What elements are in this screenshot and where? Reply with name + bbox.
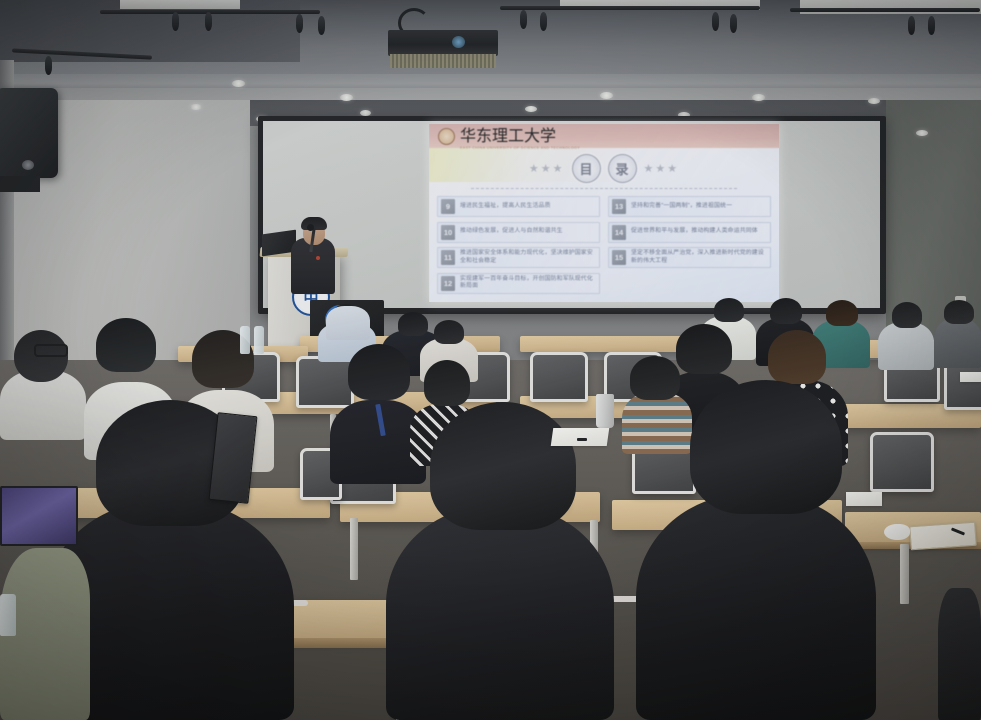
table-leg <box>350 518 358 580</box>
spotlight-icon <box>520 10 527 29</box>
university-name-block: 华东理工大学 EAST CHINA UNIVERSITY OF SCIENCE … <box>460 124 580 150</box>
downlight <box>752 94 765 101</box>
tumbler-cup <box>596 394 614 428</box>
microphone-head-icon <box>307 224 314 231</box>
toc-number: 12 <box>441 276 455 291</box>
toc-text: 推动绿色发展，促进人与自然和谐共生 <box>460 225 563 240</box>
downlight <box>916 130 928 136</box>
projector-vent <box>390 54 496 68</box>
screen-surface: 华东理工大学 EAST CHINA UNIVERSITY OF SCIENCE … <box>263 121 880 308</box>
track-light-rail <box>790 8 980 12</box>
toc-number: 15 <box>612 250 626 265</box>
toc-number: 9 <box>441 199 455 214</box>
spotlight-icon <box>908 16 915 35</box>
spotlight-icon <box>45 56 52 75</box>
toc-text: 坚持和完善"一国两制"，推进祖国统一 <box>631 199 732 214</box>
toc-seal-mu: 目 <box>572 154 601 183</box>
chair <box>870 432 934 492</box>
track-light-rail <box>500 6 760 10</box>
chair <box>296 356 354 408</box>
toc-text: 促进世界和平与发展，推动构建人类命运共同体 <box>631 225 758 240</box>
downlight <box>868 98 880 104</box>
projection-screen: 华东理工大学 EAST CHINA UNIVERSITY OF SCIENCE … <box>258 116 886 314</box>
document-sheet <box>551 428 610 446</box>
spotlight-icon <box>730 14 737 33</box>
toc-seal-lu: 录 <box>608 154 637 183</box>
chair <box>530 352 588 402</box>
downlight <box>190 104 202 110</box>
speaker-bracket <box>0 176 40 192</box>
toc-text: 推进国家安全体系和能力现代化，坚决维护国家安全和社会稳定 <box>460 250 596 265</box>
slide-divider <box>471 188 737 189</box>
toc-text: 增进民生福祉，提高人民生活品质 <box>460 199 551 214</box>
glasses-icon <box>34 344 68 357</box>
list-item: 10 推动绿色发展，促进人与自然和谐共生 <box>437 222 600 243</box>
list-item: 11 推进国家安全体系和能力现代化，坚决维护国家安全和社会稳定 <box>437 247 600 268</box>
presentation-slide: 华东理工大学 EAST CHINA UNIVERSITY OF SCIENCE … <box>429 124 779 302</box>
document-sheet <box>846 492 882 506</box>
downlight <box>525 106 537 112</box>
university-name: 华东理工大学 <box>460 128 556 145</box>
stars-left: ★★★ <box>529 162 565 175</box>
laptop <box>0 486 78 546</box>
stars-right: ★★★ <box>644 162 680 175</box>
presenter-lapel-pin <box>316 256 320 260</box>
toc-number: 14 <box>612 225 626 240</box>
water-bottle <box>0 594 16 636</box>
list-item: 13 坚持和完善"一国两制"，推进祖国统一 <box>608 196 771 217</box>
spotlight-icon <box>172 12 179 31</box>
toc-number: 10 <box>441 225 455 240</box>
pen <box>577 438 587 441</box>
tissue <box>884 524 910 540</box>
downlight <box>232 80 245 87</box>
spotlight-icon <box>540 12 547 31</box>
list-item: 9 增进民生福祉，提高人民生活品质 <box>437 196 600 217</box>
spotlight-icon <box>928 16 935 35</box>
list-item: 15 坚定不移全面从严治党，深入推进新时代党的建设新的伟大工程 <box>608 247 771 268</box>
slide-columns: 9 增进民生福祉，提高人民生活品质 10 推动绿色发展，促进人与自然和谐共生 1… <box>437 196 771 294</box>
toc-number: 13 <box>612 199 626 214</box>
downlight <box>600 92 613 99</box>
water-bottle <box>240 326 250 354</box>
downlight <box>340 94 353 101</box>
document-sheet <box>960 372 981 382</box>
list-item: 14 促进世界和平与发展，推动构建人类命运共同体 <box>608 222 771 243</box>
speaker-driver-icon <box>22 160 34 170</box>
table-leg <box>900 544 909 604</box>
university-seal-icon <box>438 128 455 145</box>
slide-header: 华东理工大学 EAST CHINA UNIVERSITY OF SCIENCE … <box>429 124 779 148</box>
list-item: 12 实现建军一百年奋斗目标，开创国防和军队现代化新局面 <box>437 273 600 294</box>
lecture-hall-photo: 华东理工大学 EAST CHINA UNIVERSITY OF SCIENCE … <box>0 0 981 720</box>
projector-lens-icon <box>452 36 465 48</box>
toc-right-column: 13 坚持和完善"一国两制"，推进祖国统一 14 促进世界和平与发展，推动构建人… <box>608 196 771 294</box>
toc-text: 实现建军一百年奋斗目标，开创国防和军队现代化新局面 <box>460 276 596 291</box>
ceiling-panel <box>120 0 240 9</box>
water-bottle <box>254 326 264 354</box>
ceiling-projector <box>388 30 498 56</box>
toc-left-column: 9 增进民生福祉，提高人民生活品质 10 推动绿色发展，促进人与自然和谐共生 1… <box>437 196 600 294</box>
toc-text: 坚定不移全面从严治党，深入推进新时代党的建设新的伟大工程 <box>631 250 767 265</box>
slide-title-row: ★★★ 目 录 ★★★ <box>429 152 779 184</box>
notebook <box>909 522 977 551</box>
spotlight-icon <box>205 12 212 31</box>
spotlight-icon <box>318 16 325 35</box>
toc-number: 11 <box>441 250 455 265</box>
spotlight-icon <box>296 14 303 33</box>
spotlight-icon <box>712 12 719 31</box>
